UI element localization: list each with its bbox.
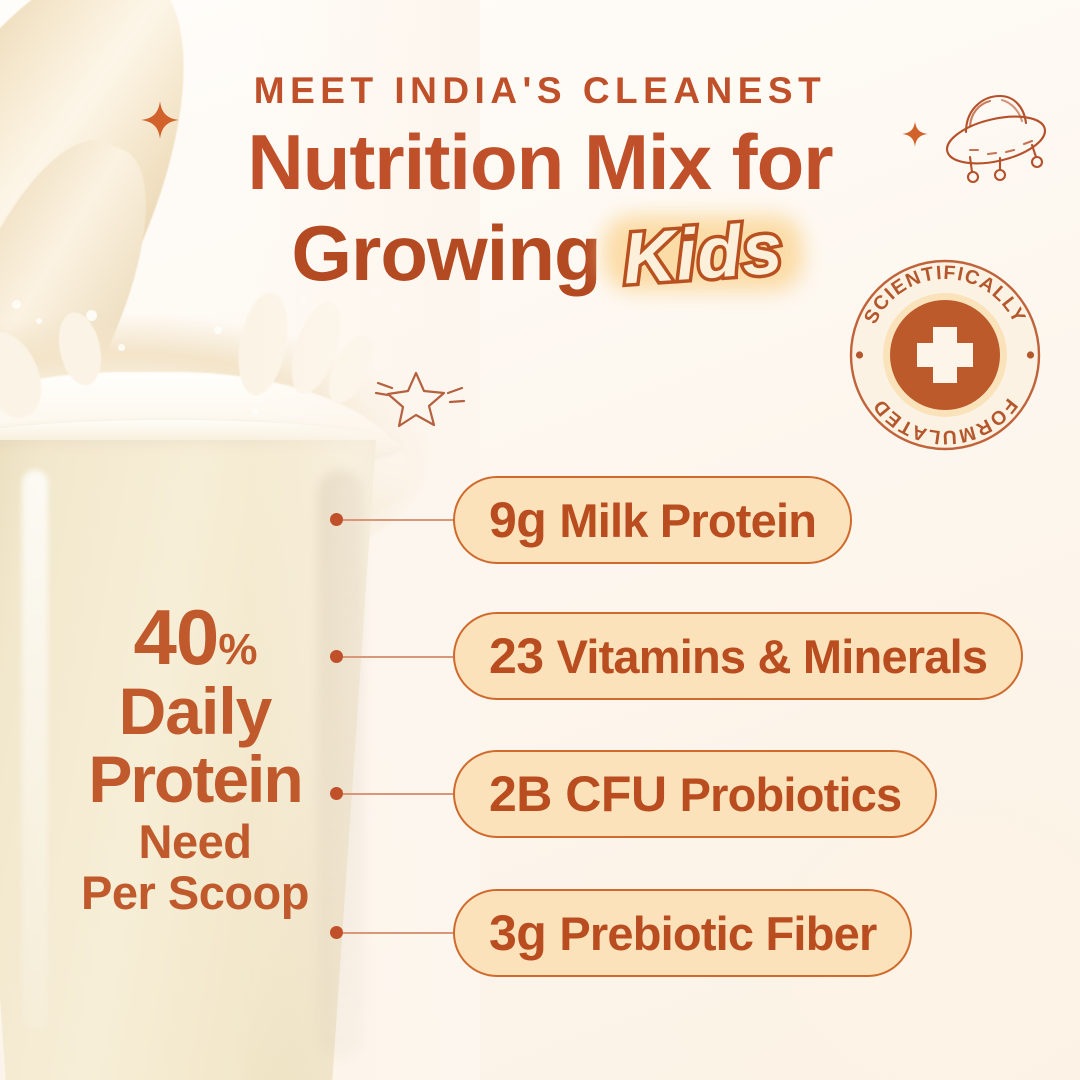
star-outline-icon xyxy=(370,365,466,435)
connector-line xyxy=(343,519,463,521)
benefit-pill-vitamins-minerals[interactable]: 23 Vitamins & Minerals xyxy=(453,612,1023,700)
benefit-label: Prebiotic Fiber xyxy=(559,906,876,961)
stat-value-row: 40% xyxy=(35,598,355,676)
four-point-sparkle-icon xyxy=(139,99,181,141)
stat-line-1: Daily xyxy=(35,678,355,744)
benefit-label: Probiotics xyxy=(680,767,902,822)
milk-droplet xyxy=(86,310,97,321)
connector-line xyxy=(343,932,463,934)
poster-canvas: MEET INDIA'S CLEANEST Nutrition Mix for … xyxy=(0,0,1080,1080)
stat-line-2: Protein xyxy=(35,746,355,812)
scientifically-formulated-badge: SCIENTIFICALLY FORMULATED xyxy=(845,255,1045,455)
daily-protein-stat: 40% Daily Protein Need Per Scoop xyxy=(35,598,355,916)
benefit-value: 9g xyxy=(489,491,546,549)
stat-unit: % xyxy=(218,625,256,674)
stat-line-4: Per Scoop xyxy=(35,869,355,916)
milk-droplet xyxy=(36,318,42,324)
benefit-pill-milk-protein[interactable]: 9g Milk Protein xyxy=(453,476,852,564)
milk-droplet xyxy=(118,344,125,351)
connector-line xyxy=(343,793,465,795)
benefit-pill-probiotics[interactable]: 2B CFU Probiotics xyxy=(453,750,937,838)
stat-value: 40 xyxy=(134,593,219,681)
connector-dot xyxy=(330,513,343,526)
connector-dot xyxy=(330,926,343,939)
stat-line-3: Need xyxy=(35,818,355,865)
four-point-sparkle-icon xyxy=(901,120,929,148)
milk-droplet xyxy=(12,300,21,309)
benefit-value: 23 xyxy=(489,627,544,685)
headline-growing: Growing xyxy=(291,208,600,299)
benefit-pill-prebiotic-fiber[interactable]: 3g Prebiotic Fiber xyxy=(453,889,912,977)
benefit-label: Vitamins & Minerals xyxy=(557,629,988,684)
connector-line xyxy=(343,656,461,658)
kids-label: Kids xyxy=(614,207,791,301)
milk-droplet xyxy=(214,326,222,334)
flying-saucer-icon xyxy=(940,82,1058,190)
benefit-value: 3g xyxy=(489,904,546,962)
benefit-label: Milk Protein xyxy=(559,493,816,548)
kids-wordmark: Kids xyxy=(617,213,789,295)
connector-dot xyxy=(330,650,343,663)
connector-dot xyxy=(330,787,343,800)
benefit-value: 2B CFU xyxy=(489,765,667,823)
